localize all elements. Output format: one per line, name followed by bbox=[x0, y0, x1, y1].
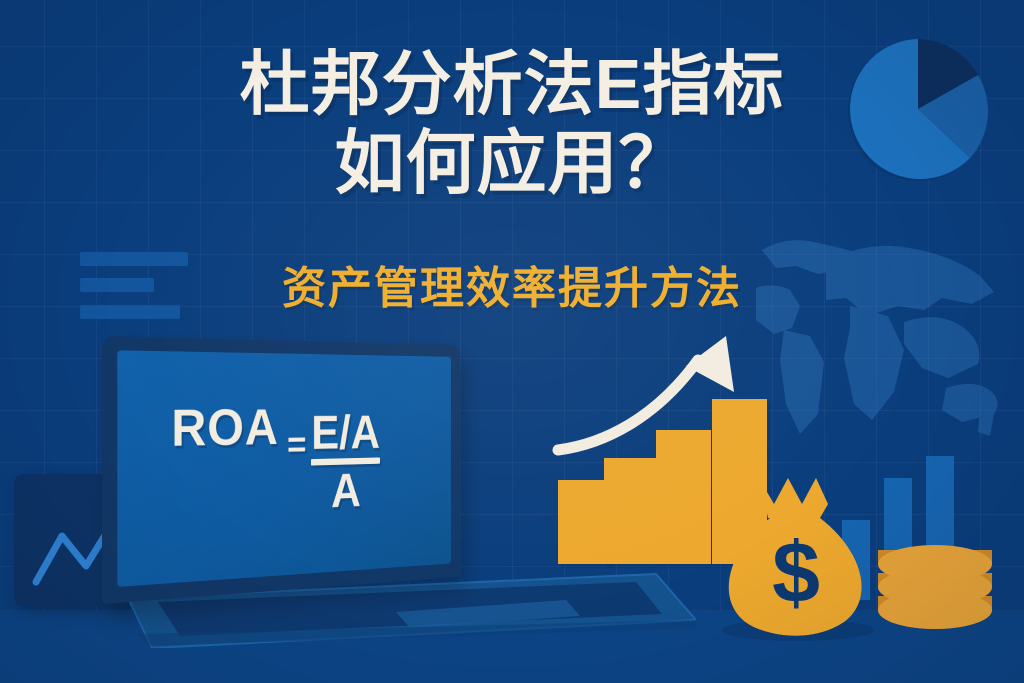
vignette-overlay bbox=[0, 0, 1024, 683]
poster-canvas: ROA = E/A A $ bbox=[0, 0, 1024, 683]
